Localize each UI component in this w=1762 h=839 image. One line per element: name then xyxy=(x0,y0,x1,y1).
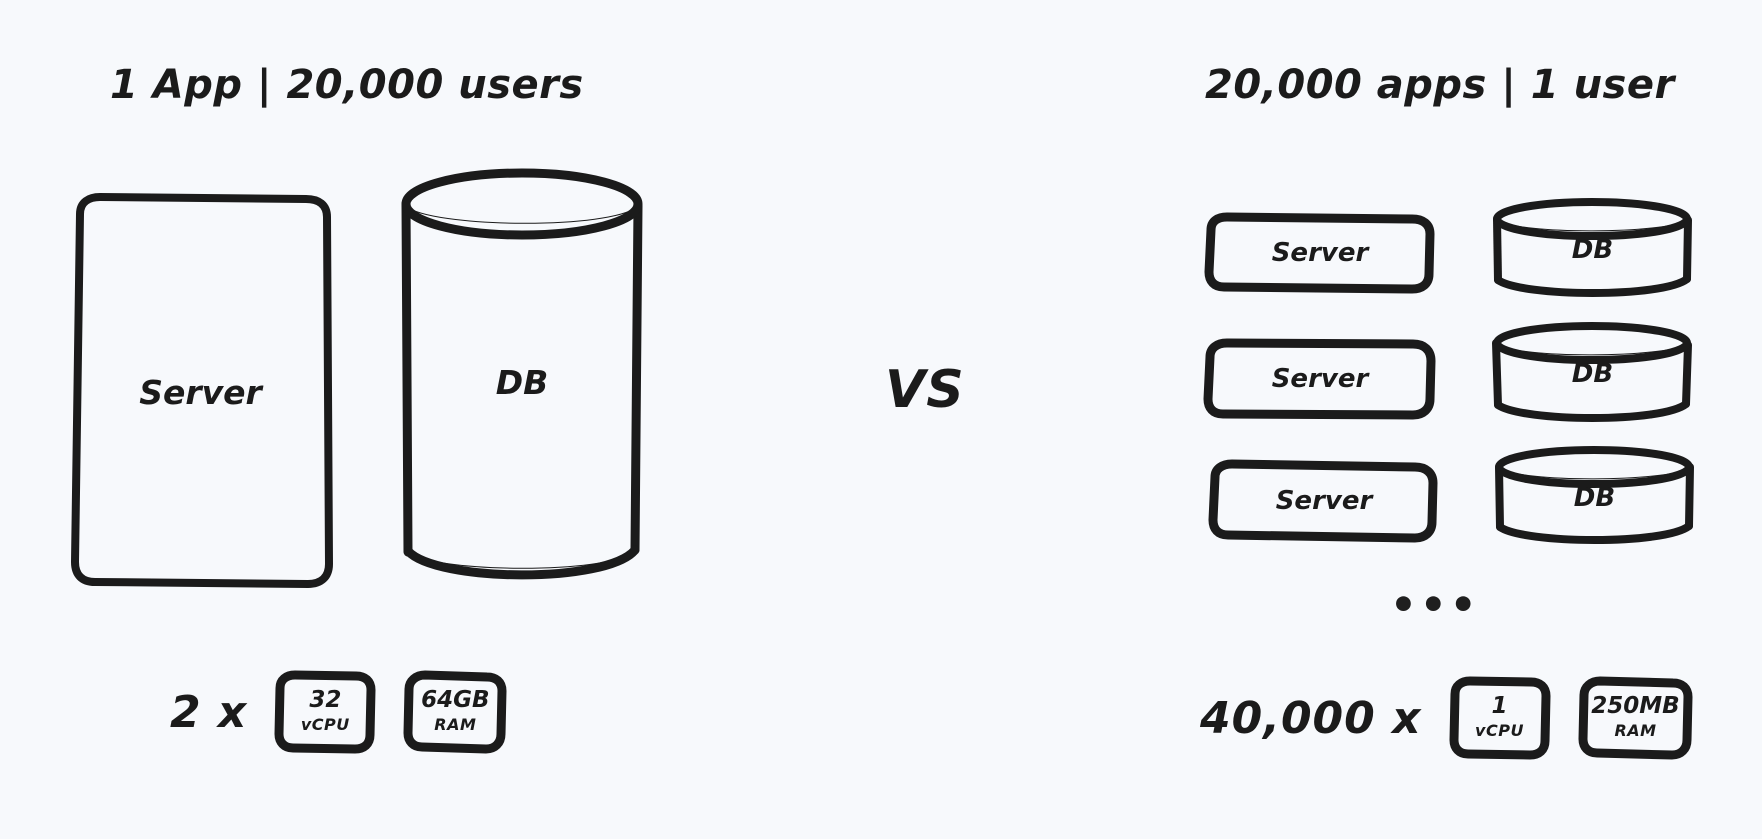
right-db-cylinder: DB xyxy=(1492,444,1697,552)
left-resource-summary: 2 x 32 vCPU 64GB RAM xyxy=(170,670,507,754)
left-db-cylinder: DB xyxy=(398,170,646,595)
left-column-title: 1 App | 20,000 users xyxy=(110,62,584,108)
chip-outline-icon xyxy=(403,670,507,754)
right-db-cylinder: DB xyxy=(1490,320,1695,428)
left-server-box: Server xyxy=(62,192,339,592)
continuation-ellipsis: ••• xyxy=(1390,600,1480,610)
server-box-icon xyxy=(62,192,339,592)
chip-outline-icon xyxy=(273,670,377,754)
right-server-box: Server xyxy=(1204,212,1436,294)
database-cylinder-icon xyxy=(398,170,646,595)
right-vcpu-chip: 1 vCPU xyxy=(1448,676,1552,760)
chip-outline-icon xyxy=(1448,676,1552,760)
right-server-box: Server xyxy=(1204,338,1436,420)
database-cylinder-icon xyxy=(1490,196,1695,304)
chip-outline-icon xyxy=(1578,676,1694,760)
right-multiplier: 40,000 x xyxy=(1200,693,1422,744)
left-ram-chip: 64GB RAM xyxy=(403,670,507,754)
vs-separator-label: VS xyxy=(885,360,965,420)
right-server-box: Server xyxy=(1208,460,1440,542)
right-db-cylinder: DB xyxy=(1490,196,1695,304)
right-column-title: 20,000 apps | 1 user xyxy=(1205,62,1675,108)
left-vcpu-chip: 32 vCPU xyxy=(273,670,377,754)
server-box-icon xyxy=(1208,460,1440,542)
right-ram-chip: 250MB RAM xyxy=(1578,676,1694,760)
database-cylinder-icon xyxy=(1492,444,1697,552)
right-resource-summary: 40,000 x 1 vCPU 250MB RAM xyxy=(1200,676,1694,760)
diagram-canvas: 1 App | 20,000 users 20,000 apps | 1 use… xyxy=(0,0,1762,839)
left-multiplier: 2 x xyxy=(170,687,247,738)
server-box-icon xyxy=(1204,338,1436,420)
server-box-icon xyxy=(1204,212,1436,294)
database-cylinder-icon xyxy=(1490,320,1695,428)
